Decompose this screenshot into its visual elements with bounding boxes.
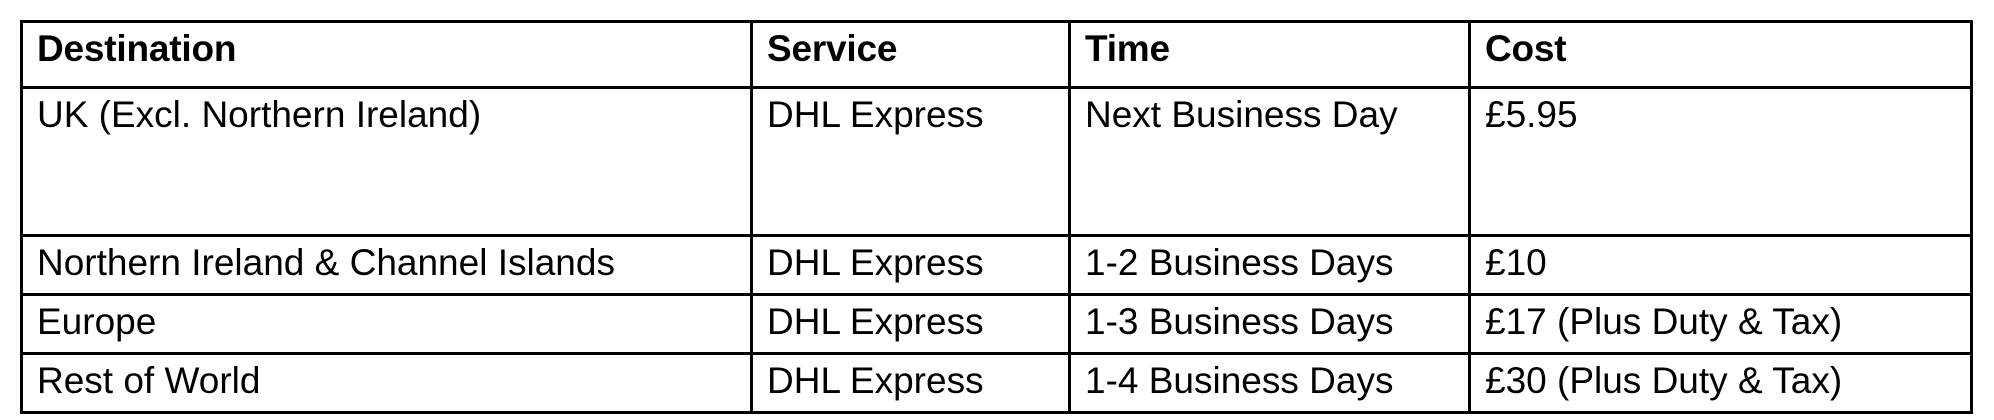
cell-destination: Rest of World	[22, 354, 752, 413]
cell-service: DHL Express	[752, 295, 1070, 354]
cell-time-text: 1-2 Business Days	[1085, 241, 1456, 285]
cell-destination-text: Europe	[37, 300, 738, 344]
column-header-time-label: Time	[1085, 27, 1456, 71]
cell-destination-text: UK (Excl. Northern Ireland)	[37, 93, 738, 137]
cell-cost-text: £10	[1485, 241, 1958, 285]
column-header-destination-label: Destination	[37, 27, 738, 71]
cell-destination-text: Northern Ireland & Channel Islands	[37, 241, 738, 285]
cell-time: 1-3 Business Days	[1070, 295, 1470, 354]
cell-cost: £30 (Plus Duty & Tax)	[1470, 354, 1972, 413]
cell-destination: Northern Ireland & Channel Islands	[22, 236, 752, 295]
cell-service-text: DHL Express	[767, 359, 1056, 403]
cell-service: DHL Express	[752, 88, 1070, 236]
table-row: UK (Excl. Northern Ireland) DHL Express …	[22, 88, 1972, 236]
column-header-service-label: Service	[767, 27, 1056, 71]
cell-service-text: DHL Express	[767, 300, 1056, 344]
cell-cost-text: £5.95	[1485, 93, 1958, 137]
cell-time-text: 1-4 Business Days	[1085, 359, 1456, 403]
cell-cost-text: £30 (Plus Duty & Tax)	[1485, 359, 1958, 403]
cell-cost: £10	[1470, 236, 1972, 295]
cell-time-text: Next Business Day	[1085, 93, 1456, 137]
table-header-row: Destination Service Time Cost	[22, 22, 1972, 88]
column-header-cost: Cost	[1470, 22, 1972, 88]
shipping-rates-table: Destination Service Time Cost UK (Excl. …	[20, 20, 1973, 414]
table-row: Europe DHL Express 1-3 Business Days £17…	[22, 295, 1972, 354]
cell-cost-text: £17 (Plus Duty & Tax)	[1485, 300, 1958, 344]
column-header-time: Time	[1070, 22, 1470, 88]
document-canvas: Destination Service Time Cost UK (Excl. …	[0, 0, 1994, 420]
table-header: Destination Service Time Cost	[22, 22, 1972, 88]
cell-time: Next Business Day	[1070, 88, 1470, 236]
column-header-cost-label: Cost	[1485, 27, 1958, 71]
table-row: Rest of World DHL Express 1-4 Business D…	[22, 354, 1972, 413]
cell-cost: £5.95	[1470, 88, 1972, 236]
table-body: UK (Excl. Northern Ireland) DHL Express …	[22, 88, 1972, 413]
column-header-destination: Destination	[22, 22, 752, 88]
cell-destination: UK (Excl. Northern Ireland)	[22, 88, 752, 236]
cell-service-text: DHL Express	[767, 93, 1056, 137]
cell-service: DHL Express	[752, 236, 1070, 295]
cell-destination: Europe	[22, 295, 752, 354]
cell-cost: £17 (Plus Duty & Tax)	[1470, 295, 1972, 354]
table-row: Northern Ireland & Channel Islands DHL E…	[22, 236, 1972, 295]
cell-service: DHL Express	[752, 354, 1070, 413]
cell-time: 1-4 Business Days	[1070, 354, 1470, 413]
column-header-service: Service	[752, 22, 1070, 88]
cell-time-text: 1-3 Business Days	[1085, 300, 1456, 344]
cell-service-text: DHL Express	[767, 241, 1056, 285]
cell-time: 1-2 Business Days	[1070, 236, 1470, 295]
cell-destination-text: Rest of World	[37, 359, 738, 403]
